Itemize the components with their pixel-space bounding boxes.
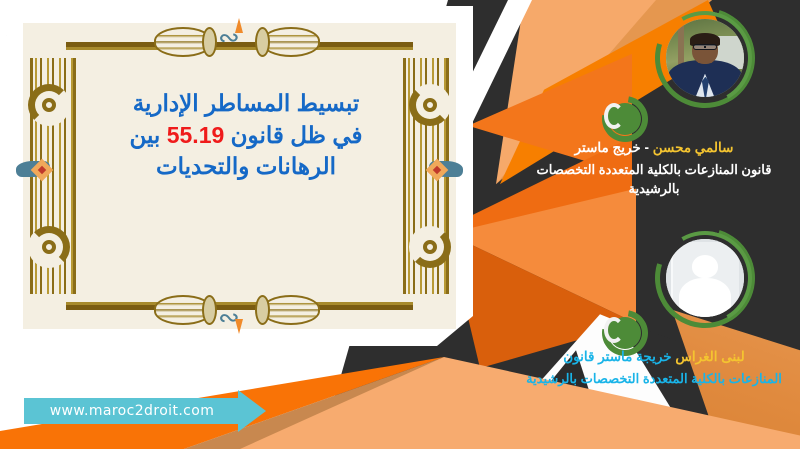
poster-title: تبسيط المساطر الإدارية في ظل قانون 55.19… (76, 88, 416, 183)
speaker-photo-placeholder (666, 239, 744, 317)
title-line-3: الرهانات والتحديات (76, 151, 416, 183)
website-banner[interactable]: www.maroc2droit.com (24, 398, 240, 424)
speaker-description: قانون المنازعات بالكلية المتعددة التخصصا… (516, 161, 792, 199)
avatar (655, 228, 755, 328)
scroll-cap-icon (202, 295, 217, 325)
title-line-2: في ظل قانون 55.19 بين (76, 120, 416, 152)
flame-accent-icon (235, 18, 243, 33)
speaker-photo (666, 19, 744, 97)
law-number: 55.19 (167, 122, 225, 148)
title-line-2-suffix: بين (129, 122, 166, 148)
speaker-role: خريجة ماستر قانون (563, 349, 675, 364)
poster-canvas: ∾ ∾ تبسيط المساطر الإدارية في ظل قانون 5… (0, 0, 800, 449)
speaker-name: لبنى الغراس (675, 349, 744, 364)
swirl-dot (42, 98, 56, 112)
scroll-cap-icon (202, 27, 217, 57)
speaker-description: المنازعات بالكلية المتعددة التخصصات بالر… (516, 370, 792, 389)
glasses-icon (693, 44, 718, 50)
title-line-1: تبسيط المساطر الإدارية (76, 88, 416, 120)
person-head-icon (692, 255, 719, 278)
scroll-roll-icon (262, 295, 320, 325)
speaker-bio: سالمي محسن - خريج ماستر قانون المنازعات … (516, 136, 792, 199)
photo-pole (678, 22, 683, 67)
flame-accent-icon (235, 319, 243, 334)
swirl-dot (42, 240, 56, 254)
title-line-2-prefix: في ظل قانون (224, 122, 362, 148)
title-card: ∾ ∾ تبسيط المساطر الإدارية في ظل قانون 5… (6, 6, 473, 346)
website-url-text: www.maroc2droit.com (50, 403, 215, 419)
speaker-name: سالمي محسن (653, 140, 734, 155)
swirl-dot (423, 240, 437, 254)
swirl-dot (423, 98, 437, 112)
avatar (655, 8, 755, 108)
scroll-roll-icon (262, 27, 320, 57)
person-silhouette-icon (679, 278, 730, 317)
scroll-cap-icon (255, 295, 270, 325)
speaker-bio: لبنى الغراس خريجة ماستر قانون المنازعات … (516, 345, 792, 389)
scroll-cap-icon (255, 27, 270, 57)
speaker-role: - خريج ماستر (575, 140, 653, 155)
